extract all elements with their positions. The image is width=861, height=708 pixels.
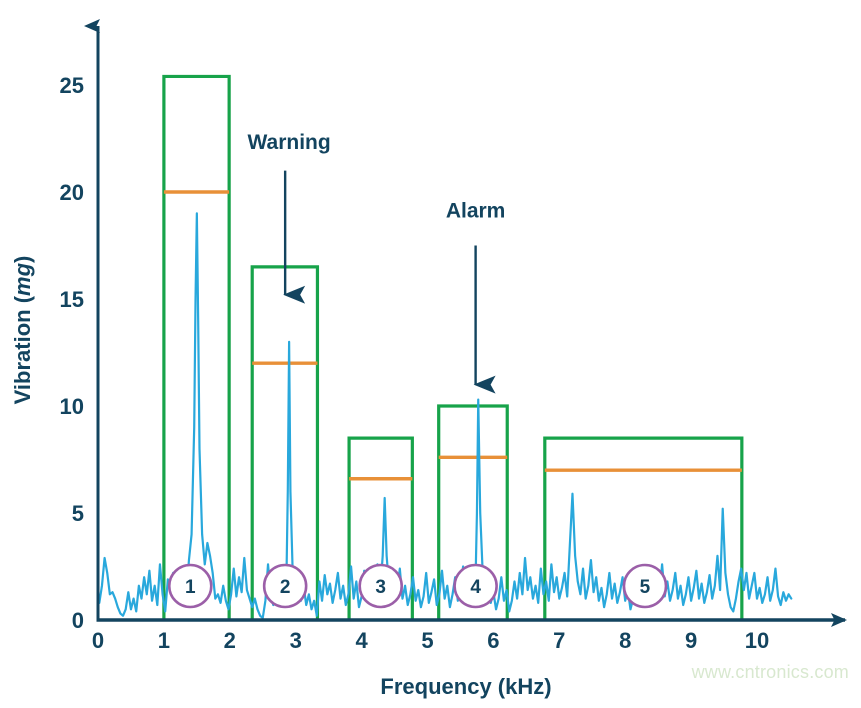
- x-axis-tick-labels: 012345678910: [92, 628, 769, 653]
- y-tick-label: 25: [60, 73, 84, 98]
- x-tick-label: 8: [619, 628, 631, 653]
- y-tick-label: 20: [60, 180, 84, 205]
- y-axis-title-group: Vibration (mg): [10, 256, 35, 405]
- band-marker-label-3: 3: [375, 577, 386, 598]
- threshold-bands-layer: [164, 76, 742, 620]
- band-marker-label-4: 4: [470, 577, 481, 598]
- x-tick-label: 3: [290, 628, 302, 653]
- band-marker-label-5: 5: [640, 577, 651, 598]
- x-tick-label: 9: [685, 628, 697, 653]
- band-marker-label-1: 1: [185, 577, 196, 598]
- x-tick-label: 5: [421, 628, 433, 653]
- y-tick-label: 0: [72, 608, 84, 633]
- y-tick-label: 5: [72, 501, 84, 526]
- callout-annotations-layer: WarningAlarm: [248, 131, 506, 384]
- x-tick-label: 7: [553, 628, 565, 653]
- callout-label-warning: Warning: [248, 131, 331, 154]
- signal-trace: [99, 213, 791, 617]
- axes-layer: [97, 26, 846, 620]
- x-axis-title: Frequency (kHz): [380, 674, 551, 699]
- signal-trace-layer: [99, 213, 791, 617]
- x-tick-label: 10: [745, 628, 769, 653]
- x-tick-label: 2: [224, 628, 236, 653]
- callout-label-alarm: Alarm: [446, 200, 506, 223]
- x-tick-label: 0: [92, 628, 104, 653]
- y-tick-label: 15: [60, 287, 84, 312]
- y-tick-label: 10: [60, 394, 84, 419]
- x-tick-label: 6: [487, 628, 499, 653]
- x-tick-label: 4: [355, 628, 368, 653]
- y-axis-tick-labels: 0510152025: [60, 73, 84, 633]
- band-marker-label-2: 2: [280, 577, 291, 598]
- x-tick-label: 1: [158, 628, 170, 653]
- band-box-1: [164, 76, 229, 620]
- watermark: www.cntronics.com: [691, 662, 849, 682]
- chart-figure: 012345678910 0510152025 12345 WarningAla…: [0, 0, 861, 708]
- y-axis-title: Vibration (mg): [10, 256, 35, 405]
- vibration-spectrum-chart: 012345678910 0510152025 12345 WarningAla…: [0, 0, 861, 708]
